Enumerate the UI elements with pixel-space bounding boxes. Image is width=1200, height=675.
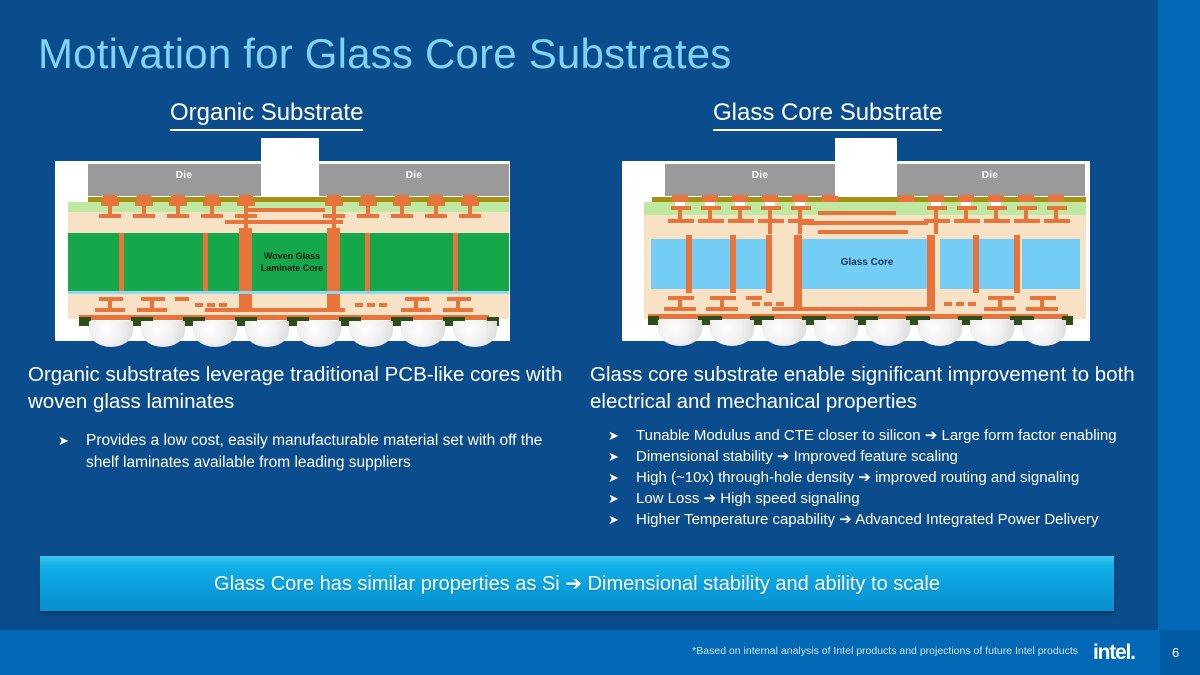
organic-substrate-cross-section: Die Die (55, 161, 510, 341)
bullet-item: ➤ Dimensional stability ➔ Improved featu… (608, 446, 1168, 467)
arrow-bullet-icon: ➤ (608, 446, 619, 467)
die-label-left: Die (88, 170, 280, 181)
core-label-glass: Glass Core (812, 257, 922, 268)
bullet-text: Tunable Modulus and CTE closer to silico… (636, 427, 1117, 444)
bullet-text: Higher Temperature capability ➔ Advanced… (636, 511, 1099, 528)
page-number: 6 (1172, 645, 1179, 660)
right-accent-bar (1158, 0, 1200, 630)
bullet-text: Dimensional stability ➔ Improved feature… (636, 448, 958, 465)
arrow-bullet-icon: ➤ (608, 488, 619, 509)
column-header-organic: Organic Substrate (170, 99, 363, 131)
bullet-list-organic: ➤ Provides a low cost, easily manufactur… (58, 430, 568, 474)
die-label-right: Die (319, 170, 509, 181)
bullet-item: ➤ Low Loss ➔ High speed signaling (608, 488, 1168, 509)
core-label-line2: Laminate Core (261, 263, 324, 273)
bullet-item: ➤ High (~10x) through-hole density ➔ imp… (608, 467, 1168, 488)
glass-core-substrate-cross-section: Die Die (622, 161, 1090, 341)
arrow-bullet-icon: ➤ (608, 509, 619, 530)
column-header-glass: Glass Core Substrate (713, 99, 942, 131)
lede-organic: Organic substrates leverage traditional … (28, 361, 568, 415)
arrow-bullet-icon: ➤ (58, 430, 69, 451)
die-right-glass: Die (895, 164, 1085, 196)
arrow-bullet-icon: ➤ (608, 425, 619, 446)
bullet-text: High (~10x) through-hole density ➔ impro… (636, 469, 1079, 486)
core-label-organic: Woven Glass Laminate Core (252, 250, 332, 274)
slide-canvas: Motivation for Glass Core Substrates Org… (0, 0, 1200, 675)
bullet-text: Low Loss ➔ High speed signaling (636, 490, 860, 507)
footer-band-right (1160, 630, 1200, 675)
mould-gap-column-glass (835, 138, 897, 196)
intel-logo: intel. (1093, 641, 1135, 665)
arrow-bullet-icon: ➤ (608, 467, 619, 488)
key-takeaway-banner: Glass Core has similar properties as Si … (40, 556, 1114, 611)
bullet-text: Provides a low cost, easily manufacturab… (86, 432, 542, 471)
core-label-line1: Woven Glass (264, 251, 320, 261)
bullet-list-glass: ➤ Tunable Modulus and CTE closer to sili… (608, 425, 1168, 530)
lede-glass: Glass core substrate enable significant … (590, 361, 1160, 415)
die-label-right-glass: Die (895, 170, 1085, 181)
page-title: Motivation for Glass Core Substrates (38, 28, 731, 80)
bullet-item: ➤ Tunable Modulus and CTE closer to sili… (608, 425, 1168, 446)
die-left: Die (88, 164, 280, 196)
die-label-left-glass: Die (665, 170, 855, 181)
mould-gap-column (261, 138, 319, 196)
die-left-glass: Die (665, 164, 855, 196)
footnote: *Based on internal analysis of Intel pro… (692, 645, 1078, 657)
bullet-item: ➤ Higher Temperature capability ➔ Advanc… (608, 509, 1168, 530)
die-right: Die (319, 164, 509, 196)
banner-text: Glass Core has similar properties as Si … (214, 571, 940, 596)
bullet-item: ➤ Provides a low cost, easily manufactur… (58, 430, 568, 474)
